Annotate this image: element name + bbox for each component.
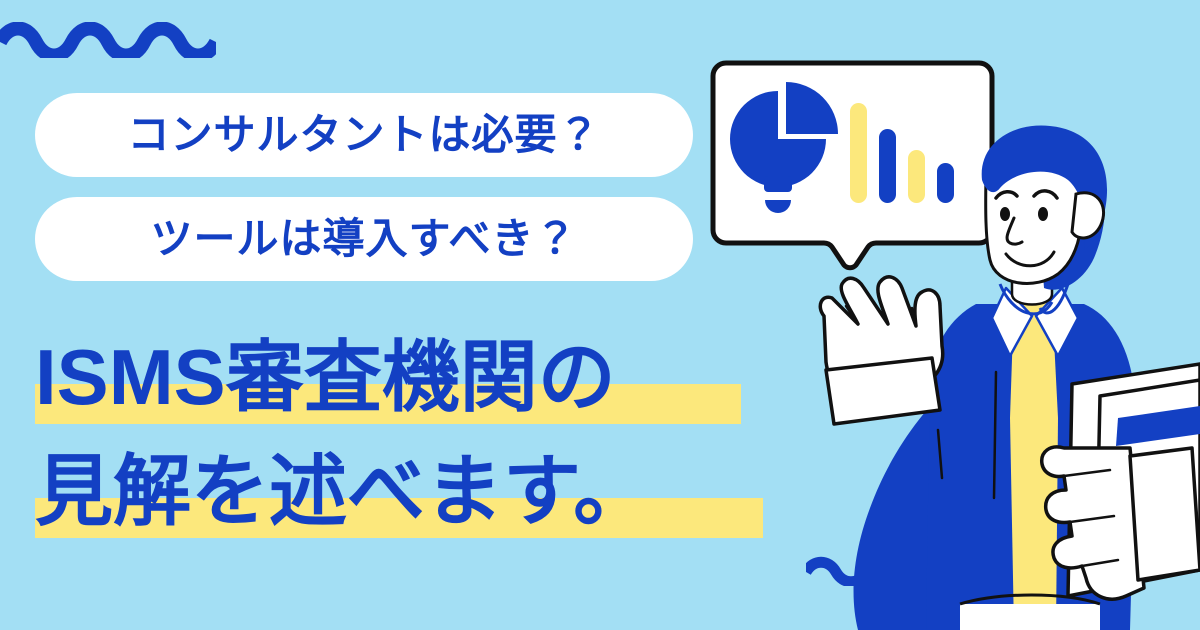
page-title: ISMS審査機関の 見解を述べます。 xyxy=(35,330,795,558)
poster-canvas: コンサルタントは必要？ ツールは導入すべき？ ISMS審査機関の 見解を述べます… xyxy=(0,0,1200,630)
headline-text: ISMS審査機関の xyxy=(35,330,795,424)
headline-line-2: 見解を述べます。 xyxy=(35,444,795,544)
question-pill-label: ツールは導入すべき？ xyxy=(150,218,577,260)
wave-top-left-decoration xyxy=(0,22,216,58)
question-pill-consultant[interactable]: コンサルタントは必要？ xyxy=(35,93,693,177)
businessman-illustration xyxy=(800,118,1200,630)
question-pill-label: コンサルタントは必要？ xyxy=(127,114,600,156)
waving-hand xyxy=(820,277,942,424)
question-pill-tool[interactable]: ツールは導入すべき？ xyxy=(35,197,693,281)
headline-text: 見解を述べます。 xyxy=(35,444,795,538)
headline-line-1: ISMS審査機関の xyxy=(35,330,795,430)
